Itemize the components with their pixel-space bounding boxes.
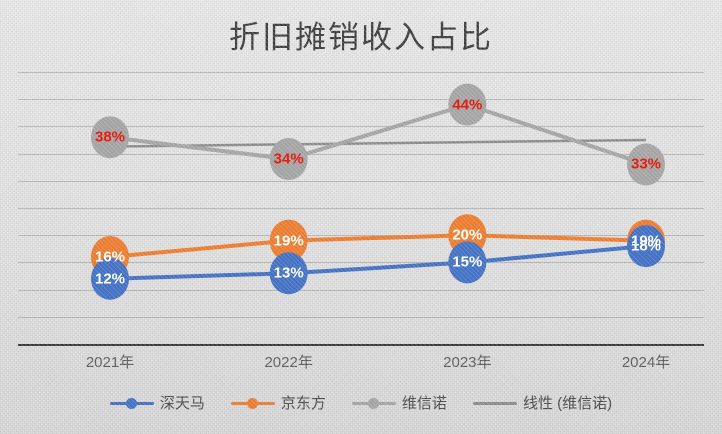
legend-label: 维信诺	[402, 392, 447, 413]
series-line	[110, 105, 646, 165]
legend-item[interactable]: 京东方	[231, 392, 326, 413]
legend-label: 深天马	[160, 392, 205, 413]
x-axis-tick-label: 2022年	[229, 351, 349, 372]
x-axis-line	[18, 344, 704, 346]
x-axis-tick-label: 2024年	[586, 351, 706, 372]
legend-label: 京东方	[281, 392, 326, 413]
data-point-marker	[91, 258, 129, 300]
data-point-marker	[627, 225, 665, 267]
chart-legend: 深天马京东方维信诺线性 (维信诺)	[0, 392, 722, 413]
legend-marker-icon	[231, 396, 275, 410]
data-point-marker	[270, 252, 308, 294]
data-point-marker	[448, 241, 486, 283]
x-axis-labels: 2021年2022年2023年2024年	[18, 351, 704, 377]
legend-item[interactable]: 维信诺	[352, 392, 447, 413]
legend-marker-icon	[110, 396, 154, 410]
data-point-marker	[627, 143, 665, 185]
x-axis-tick-label: 2023年	[407, 351, 527, 372]
legend-marker-icon	[352, 396, 396, 410]
chart-container: 折旧摊销收入占比 2021年2022年2023年2024年 深天马京东方维信诺线…	[0, 0, 722, 434]
data-point-marker	[448, 84, 486, 126]
data-point-marker	[270, 138, 308, 180]
data-point-marker	[91, 116, 129, 158]
legend-marker-icon	[473, 396, 517, 410]
legend-item[interactable]: 线性 (维信诺)	[473, 392, 612, 413]
x-axis-tick-label: 2021年	[50, 351, 170, 372]
legend-label: 线性 (维信诺)	[523, 392, 612, 413]
legend-item[interactable]: 深天马	[110, 392, 205, 413]
